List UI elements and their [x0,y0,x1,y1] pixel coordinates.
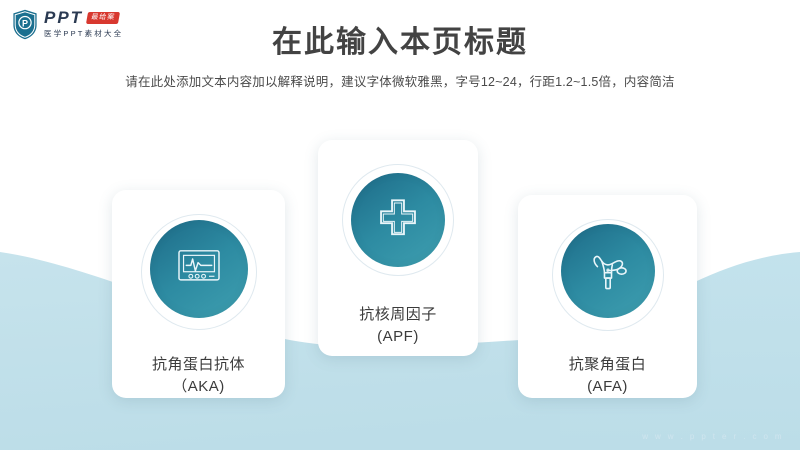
page-subtitle: 请在此处添加文本内容加以解释说明，建议字体微软雅黑，字号12~24，行距1.2~… [0,71,800,90]
card-label: 抗聚角蛋白 (AFA) [569,354,647,398]
icon-container [340,162,456,278]
card-aka[interactable]: 抗角蛋白抗体 （AKA) [112,190,285,398]
card-label-line1: 抗核周因子 [359,306,437,323]
icon-outer-ring [342,164,454,276]
card-afa[interactable]: 抗聚角蛋白 (AFA) [518,195,697,398]
card-label-line1: 抗角蛋白抗体 [152,356,245,373]
icon-container [550,217,666,324]
card-label-line1: 抗聚角蛋白 [569,356,647,373]
card-label: 抗角蛋白抗体 （AKA) [152,354,245,398]
page-title: 在此输入本页标题 [0,17,800,61]
icon-container [139,212,259,326]
card-label: 抗核周因子 (APF) [359,304,437,348]
card-label-line2: （AKA) [152,376,245,398]
card-apf[interactable]: 抗核周因子 (APF) [318,140,478,356]
icon-outer-ring [552,219,664,331]
slide-canvas: P PPT 最给案 医学PPT素材大全 在此输入本页标题 请在此处添加文本内容加… [0,0,800,450]
card-label-line2: (AFA) [569,376,647,398]
watermark-text: w w w . p p t e r . c o m [642,432,784,441]
card-label-line2: (APF) [359,326,437,348]
icon-outer-ring [141,214,257,330]
